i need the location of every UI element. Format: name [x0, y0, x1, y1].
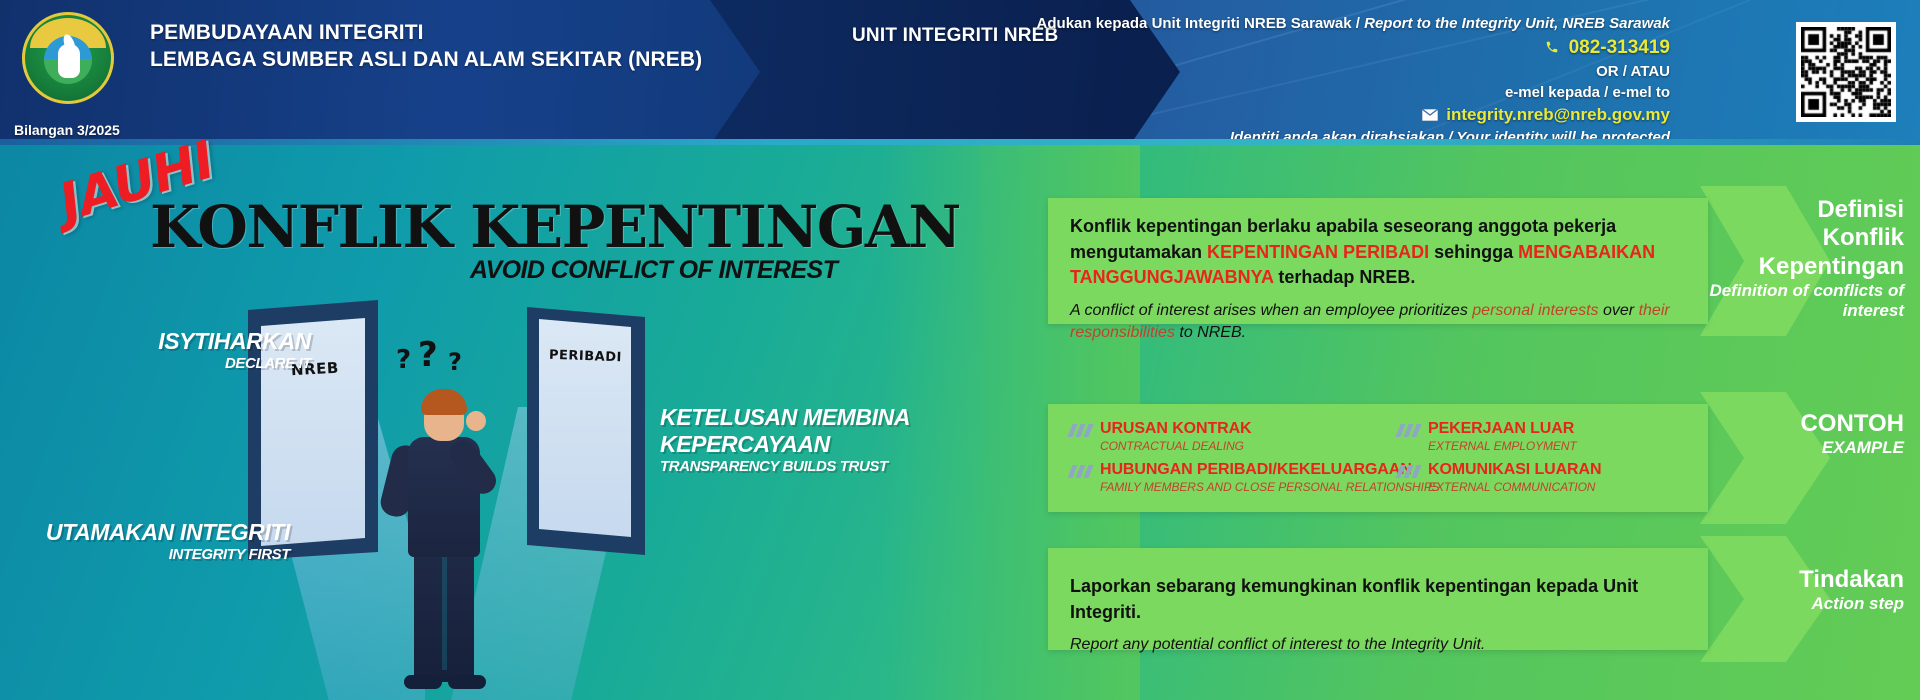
question-mark-1: ?	[396, 345, 411, 375]
definition-side-title-l3: Kepentingan	[1694, 253, 1904, 281]
definition-en-part2: over	[1599, 302, 1639, 319]
example-sub: EXTERNAL EMPLOYMENT	[1428, 439, 1577, 453]
definition-ms-part2: sehingga	[1429, 242, 1518, 262]
organization-title: PEMBUDAYAAN INTEGRITI LEMBAGA SUMBER ASL…	[150, 20, 702, 74]
email-line[interactable]: integrity.nreb@nreb.gov.my	[910, 103, 1670, 127]
definition-en: A conflict of interest arises when an em…	[1070, 300, 1690, 345]
stripes-icon	[1070, 424, 1092, 437]
report-line: Adukan kepada Unit Integriti NREB Sarawa…	[910, 14, 1670, 35]
phone-line[interactable]: 082-313419	[910, 35, 1670, 62]
action-en: Report any potential conflict of interes…	[1070, 634, 1690, 657]
email-label: e-mel kepada / e-mel to	[910, 83, 1670, 104]
definition-side-title-l1: Definisi	[1694, 196, 1904, 224]
phone-icon	[1545, 36, 1559, 62]
phone-number: 082-313419	[1569, 37, 1670, 58]
action-side-label: Tindakan Action step	[1694, 566, 1904, 614]
envelope-icon	[1422, 104, 1438, 127]
action-side-sub: Action step	[1694, 594, 1904, 614]
caption-integrity: UTAMAKAN INTEGRITI INTEGRITY FIRST	[30, 519, 290, 563]
caption-declare-ms: ISYTIHARKAN	[96, 328, 311, 355]
caption-declare: ISYTIHARKAN DECLARE IT	[96, 328, 311, 372]
definition-side-title-l2: Konflik	[1694, 224, 1904, 252]
contact-block: Adukan kepada Unit Integriti NREB Sarawa…	[910, 14, 1670, 145]
example-side-title: CONTOH	[1694, 410, 1904, 438]
report-line-en: Report to the Integrity Unit, NREB Saraw…	[1364, 15, 1670, 32]
example-title: HUBUNGAN PERIBADI/KEKELUARGAAN	[1100, 461, 1412, 478]
caption-transparency-ms2: KEPERCAYAAN	[660, 431, 920, 458]
action-side-title: Tindakan	[1694, 566, 1904, 594]
report-separator: /	[1356, 15, 1360, 32]
example-sub: CONTRACTUAL DEALING	[1100, 439, 1251, 453]
definition-en-part3: to NREB.	[1175, 324, 1246, 341]
definition-panel: Konflik kepentingan berlaku apabila sese…	[1048, 198, 1708, 324]
definition-side-label: Definisi Konflik Kepentingan Definition …	[1694, 196, 1904, 321]
person-illustration	[380, 375, 510, 695]
caption-integrity-en: INTEGRITY FIRST	[30, 546, 290, 563]
example-panel: URUSAN KONTRAK CONTRACTUAL DEALING HUBUN…	[1048, 404, 1708, 512]
definition-ms: Konflik kepentingan berlaku apabila sese…	[1070, 214, 1690, 291]
caption-transparency-en: TRANSPARENCY BUILDS TRUST	[660, 458, 920, 475]
caption-transparency-ms1: KETELUSAN MEMBINA	[660, 404, 920, 431]
example-side-label: CONTOH EXAMPLE	[1694, 410, 1904, 458]
question-mark-2: ?	[418, 335, 438, 375]
caption-integrity-ms: UTAMAKAN INTEGRITI	[30, 519, 290, 546]
stripes-icon	[1398, 465, 1420, 478]
org-line-1: PEMBUDAYAAN INTEGRITI	[150, 20, 702, 47]
qr-code[interactable]	[1796, 22, 1896, 122]
example-title: KOMUNIKASI LUARAN	[1428, 461, 1601, 478]
caption-transparency: KETELUSAN MEMBINA KEPERCAYAAN TRANSPAREN…	[660, 404, 920, 475]
or-text: OR / ATAU	[910, 62, 1670, 83]
definition-ms-part3: terhadap NREB.	[1273, 267, 1415, 287]
definition-ms-red1: KEPENTINGAN PERIBADI	[1207, 242, 1429, 262]
question-mark-3: ?	[448, 348, 462, 376]
action-panel: Laporkan sebarang kemungkinan konflik ke…	[1048, 548, 1708, 650]
nreb-logo	[22, 12, 114, 104]
door-peribadi: PERIBADI	[527, 307, 645, 555]
caption-declare-en: DECLARE IT	[96, 355, 311, 372]
stripes-icon	[1398, 424, 1420, 437]
definition-en-red1: personal interests	[1472, 302, 1598, 319]
example-title: PEKERJAAN LUAR	[1428, 420, 1574, 437]
stripes-icon	[1070, 465, 1092, 478]
page-header: PEMBUDAYAAN INTEGRITI LEMBAGA SUMBER ASL…	[0, 0, 1920, 145]
definition-en-part1: A conflict of interest arises when an em…	[1070, 302, 1472, 319]
action-ms: Laporkan sebarang kemungkinan konflik ke…	[1070, 574, 1690, 625]
example-sub: EXTERNAL COMMUNICATION	[1428, 480, 1601, 494]
example-title: URUSAN KONTRAK	[1100, 420, 1251, 437]
example-sub: FAMILY MEMBERS AND CLOSE PERSONAL RELATI…	[1100, 480, 1440, 494]
example-side-sub: EXAMPLE	[1694, 438, 1904, 458]
issue-number: Bilangan 3/2025	[14, 122, 120, 138]
org-line-2: LEMBAGA SUMBER ASLI DAN ALAM SEKITAR (NR…	[150, 47, 702, 74]
email-address: integrity.nreb@nreb.gov.my	[1446, 105, 1670, 124]
door-peribadi-label: PERIBADI	[549, 348, 622, 366]
definition-side-sub: Definition of conflicts of interest	[1694, 281, 1904, 321]
report-line-ms: Adukan kepada Unit Integriti NREB Sarawa…	[1037, 15, 1352, 32]
